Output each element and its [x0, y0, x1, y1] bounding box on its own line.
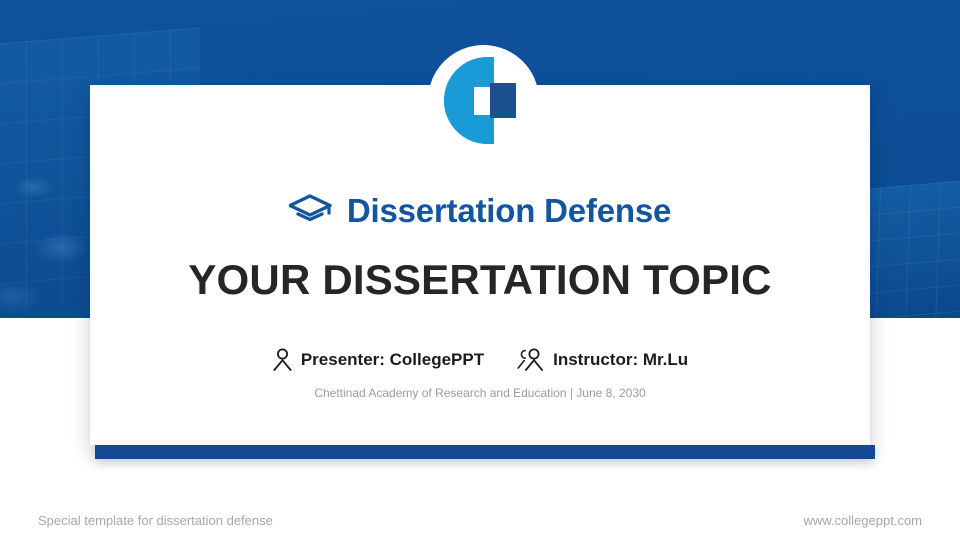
presenter-entry: Presenter: CollegePPT — [272, 348, 484, 371]
page-title: YOUR DISSERTATION TOPIC — [0, 256, 960, 304]
college-circular-emblem — [428, 45, 539, 156]
emblem-arc-icon — [444, 57, 531, 144]
brand-line: Dissertation Defense — [0, 192, 960, 230]
title-slide: Dissertation Defense YOUR DISSERTATION T… — [0, 0, 960, 540]
instructor-label: Instructor: Mr.Lu — [553, 350, 688, 370]
people-row: Presenter: CollegePPT Instructor: Mr.Lu — [0, 348, 960, 371]
two-people-icon — [516, 348, 545, 371]
presenter-label: Presenter: CollegePPT — [301, 350, 484, 370]
footer-website-link[interactable]: www.collegeppt.com — [804, 513, 923, 528]
instructor-entry: Instructor: Mr.Lu — [516, 348, 688, 371]
institution-and-date: Chettinad Academy of Research and Educat… — [0, 386, 960, 400]
graduation-cap-icon — [289, 194, 333, 228]
card-accent-bar — [95, 445, 875, 459]
single-person-icon — [272, 348, 293, 371]
footer-left-text: Special template for dissertation defens… — [38, 513, 273, 528]
emblem-square-mark — [490, 83, 516, 118]
brand-line-text: Dissertation Defense — [347, 192, 671, 230]
